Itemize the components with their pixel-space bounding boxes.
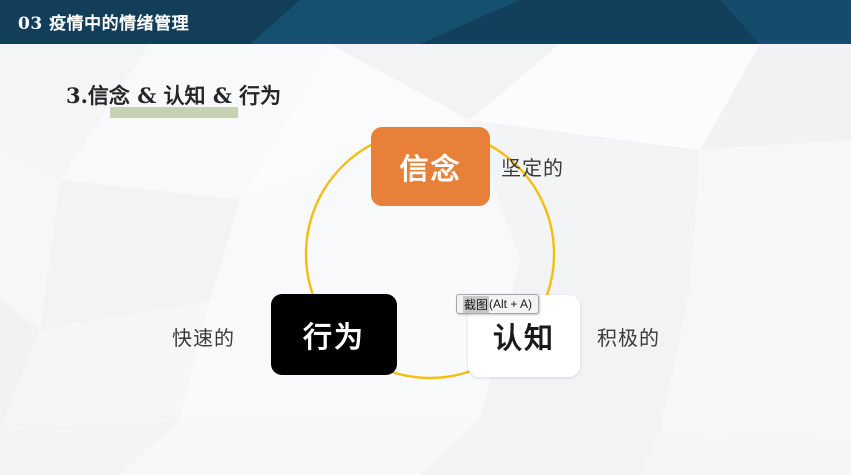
label-active: 积极的 <box>597 322 660 351</box>
node-belief-label: 信念 <box>399 146 461 188</box>
cycle-ring-arc <box>0 0 851 475</box>
section-heading: 3.信念 & 认知 & 行为 <box>66 80 281 110</box>
label-fast: 快速的 <box>172 322 235 351</box>
node-cognition-label: 认知 <box>493 315 555 357</box>
screenshot-tooltip-action: 截图 <box>463 296 489 313</box>
node-behavior-label: 行为 <box>303 314 365 356</box>
node-belief[interactable]: 信念 <box>371 127 490 206</box>
node-behavior[interactable]: 行为 <box>271 294 397 375</box>
screenshot-tooltip: 截图(Alt + A) <box>456 294 539 314</box>
slide-canvas: 03 疫情中的情绪管理 3.信念 & 认知 & 行为 信念 行为 认知 坚定的 … <box>0 0 851 475</box>
label-firm: 坚定的 <box>501 152 564 181</box>
screenshot-tooltip-hotkey: (Alt + A) <box>489 297 532 311</box>
cycle-diagram: 信念 行为 认知 坚定的 快速的 积极的 <box>0 0 851 475</box>
